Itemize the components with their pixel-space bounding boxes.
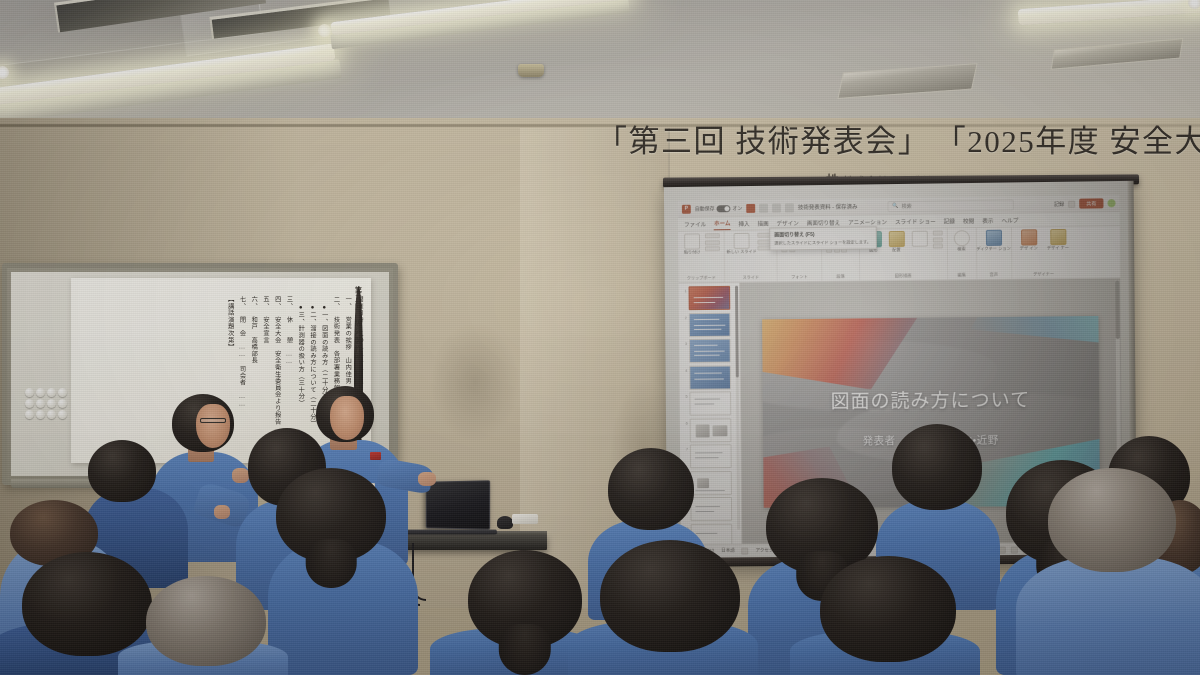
thumbnail-item[interactable]: 1: [682, 286, 738, 310]
find-label: 検索: [957, 247, 965, 252]
paste-button[interactable]: 貼り付け: [682, 233, 702, 255]
new-slide-icon: [734, 233, 750, 249]
search-icon: 🔍: [892, 203, 898, 209]
magnet-cluster: [25, 388, 67, 419]
find-button[interactable]: 検索: [951, 230, 971, 252]
thumbnail-slide-3[interactable]: [689, 339, 731, 363]
autosave-toggle[interactable]: 自動保存 オン: [695, 205, 743, 213]
thumbnail-slide-2[interactable]: [689, 312, 731, 336]
slide-sorter-icon[interactable]: [1011, 546, 1018, 553]
thumbnail-number: 4: [682, 365, 687, 372]
thumbnail-number: 6: [683, 418, 688, 425]
slide-scrollbar-thumb[interactable]: [1115, 281, 1120, 339]
ceiling-light-3: [1018, 0, 1200, 25]
format-painter-icon[interactable]: [705, 246, 720, 251]
designer-panel-label: デザイ ナー: [1047, 246, 1069, 251]
ribbon-group-label: デザイナー: [1016, 271, 1071, 278]
tooltip-title: 画面切り替え (F5): [774, 230, 872, 238]
language-indicator[interactable]: 日本語: [721, 548, 735, 554]
thumbnail-item[interactable]: 6: [683, 418, 739, 442]
designer-panel-button[interactable]: デザイ ナー: [1045, 229, 1071, 251]
thumbnail-scrollbar[interactable]: [735, 286, 739, 378]
thumbnail-number: 5: [683, 392, 688, 399]
agenda-column: 六、 和戸 高橋部長: [250, 286, 258, 455]
tab-slideshow[interactable]: スライド ショー: [895, 218, 936, 229]
agenda-column: ●二、溜接の読み方について（二十分）: [308, 286, 316, 455]
uniform-logo: [370, 452, 381, 460]
thumbnail-slide-8[interactable]: [690, 471, 732, 495]
banner-text-part1: 「第三回 技術発表会」: [596, 124, 930, 159]
tab-insert[interactable]: 挿入: [738, 220, 749, 230]
paste-icon: [684, 233, 700, 249]
quick-access-redo-button[interactable]: [772, 203, 781, 212]
share-button[interactable]: 共有: [1079, 198, 1103, 208]
quick-styles-button[interactable]: [909, 231, 929, 247]
thumbnail-slide-4[interactable]: [689, 365, 731, 389]
ribbon-group-label: クリップボード: [682, 275, 720, 281]
ribbon-tooltip: 画面切り替え (F5) 選択したスライドにスライド ショーを設定します。: [769, 226, 877, 250]
tooltip-body: 選択したスライドにスライド ショーを設定します。: [774, 239, 872, 246]
thumbnail-item[interactable]: 7: [683, 444, 739, 468]
wall-banner: 「第三回 技術発表会」「2025年度 安全大会」: [596, 126, 1200, 157]
record-button[interactable]: 記録: [1054, 200, 1064, 207]
thumbnail-slide-1[interactable]: [689, 286, 731, 310]
thumbnail-slide-7[interactable]: [690, 444, 732, 468]
tab-review[interactable]: 校閲: [963, 217, 974, 227]
photo-scene: 「第三回 技術発表会」「2025年度 安全大会」 株 株式会社 阪河製作所 第三…: [0, 0, 1200, 675]
accessibility-icon[interactable]: [742, 547, 749, 554]
power-adapter: [497, 516, 513, 529]
ceiling: [0, 0, 1200, 132]
microphone-icon: [985, 230, 1001, 246]
designer-icon: [1021, 229, 1037, 245]
quick-access-slideshow-button[interactable]: [785, 203, 794, 212]
design-ideas-button[interactable]: デザ イン: [1016, 229, 1042, 251]
ribbon-group-label: 音声: [981, 272, 1007, 278]
autosave-label: 自動保存: [695, 205, 715, 212]
tab-draw[interactable]: 描画: [757, 220, 768, 230]
arrange-label: 配置: [892, 248, 900, 253]
new-slide-button[interactable]: 新しい スライド: [729, 233, 755, 255]
ribbon-group-designer: デザ イン デザイ ナー デザイナー: [1011, 227, 1075, 279]
thumbnail-number: 3: [682, 339, 687, 346]
tab-file[interactable]: ファイル: [684, 220, 706, 230]
slide-title[interactable]: 図面の読み方について: [763, 384, 1100, 414]
autosave-state: オン: [732, 205, 742, 212]
paste-label: 貼り付け: [684, 250, 701, 255]
presenter-laptop-base: [404, 530, 497, 535]
shape-effects-icon[interactable]: [932, 243, 942, 248]
thumbnail-item[interactable]: 3: [682, 339, 738, 363]
thumbnail-item[interactable]: 4: [682, 365, 738, 389]
thumbnail-slide-6[interactable]: [690, 418, 732, 442]
ribbon-group-label: 図形描画: [864, 273, 943, 280]
thumbnail-item[interactable]: 5: [683, 391, 739, 415]
tab-record[interactable]: 記録: [944, 217, 955, 227]
dictate-button[interactable]: ディクテー ション: [980, 230, 1006, 252]
dictate-label: ディクテー ション: [976, 247, 1011, 252]
tab-help[interactable]: ヘルプ: [1001, 216, 1018, 226]
tab-view[interactable]: 表示: [982, 217, 993, 227]
autosave-switch[interactable]: [717, 205, 731, 212]
designer-panel-icon: [1050, 229, 1066, 245]
banner-text-part2: 「2025年度 安全大会」: [950, 124, 1200, 159]
quick-access-save-button[interactable]: [746, 203, 755, 212]
ac-grille-right: [1051, 38, 1184, 70]
thumbnail-slide-9[interactable]: [690, 497, 732, 521]
account-avatar[interactable]: [1107, 199, 1115, 207]
quick-access-undo-button[interactable]: [759, 203, 768, 212]
thumbnail-slide-5[interactable]: [689, 391, 731, 415]
search-box[interactable]: 🔍 検索: [887, 199, 1013, 212]
tab-home[interactable]: ホーム: [714, 219, 731, 230]
copy-icon[interactable]: [705, 240, 720, 245]
shape-fill-icon[interactable]: [932, 230, 942, 235]
thumbnail-item[interactable]: 2: [682, 312, 738, 336]
powerpoint-logo: P: [682, 204, 691, 213]
agenda-column: 五、 安全宣言: [261, 286, 269, 455]
ribbon-group-editing: 検索 編集: [947, 228, 977, 279]
ribbon-group-label: フォント: [782, 274, 818, 280]
design-ideas-label: デザ イン: [1020, 246, 1038, 251]
ribbon: 貼り付け クリップボード 新しい スライド: [678, 226, 1120, 283]
ribbon-group-voice: ディクテー ション 音声: [976, 228, 1012, 280]
search-placeholder: 検索: [902, 202, 912, 209]
smoke-detector: [518, 64, 544, 77]
find-icon: [953, 230, 969, 246]
ribbon-group-label: 編集: [952, 272, 972, 278]
agenda-column: 七、 閉 会 …… 司会者 ……: [238, 286, 246, 455]
document-filename[interactable]: 技術発表資料 - 保存済み: [798, 203, 858, 212]
comment-icon[interactable]: [1068, 200, 1075, 207]
quick-styles-icon: [911, 231, 927, 247]
ribbon-group-label: スライド: [729, 274, 773, 280]
cut-icon[interactable]: [705, 233, 720, 238]
thumbnail-number: 2: [682, 313, 687, 320]
ribbon-group-clipboard: 貼り付け クリップボード: [678, 231, 725, 282]
shape-outline-icon[interactable]: [932, 237, 942, 242]
arrange-icon: [888, 231, 904, 247]
eyeglasses: [200, 418, 226, 423]
cable-bundle: [512, 514, 538, 524]
thumbnail-number: 7: [683, 444, 688, 451]
new-slide-label: 新しい スライド: [727, 250, 757, 255]
presenter-laptop-screen: [426, 480, 490, 530]
ribbon-group-label: 段落: [826, 273, 854, 279]
ac-grille: [837, 63, 977, 99]
arrange-button[interactable]: 配置: [886, 231, 906, 253]
thumbnail-number: 1: [682, 286, 687, 293]
